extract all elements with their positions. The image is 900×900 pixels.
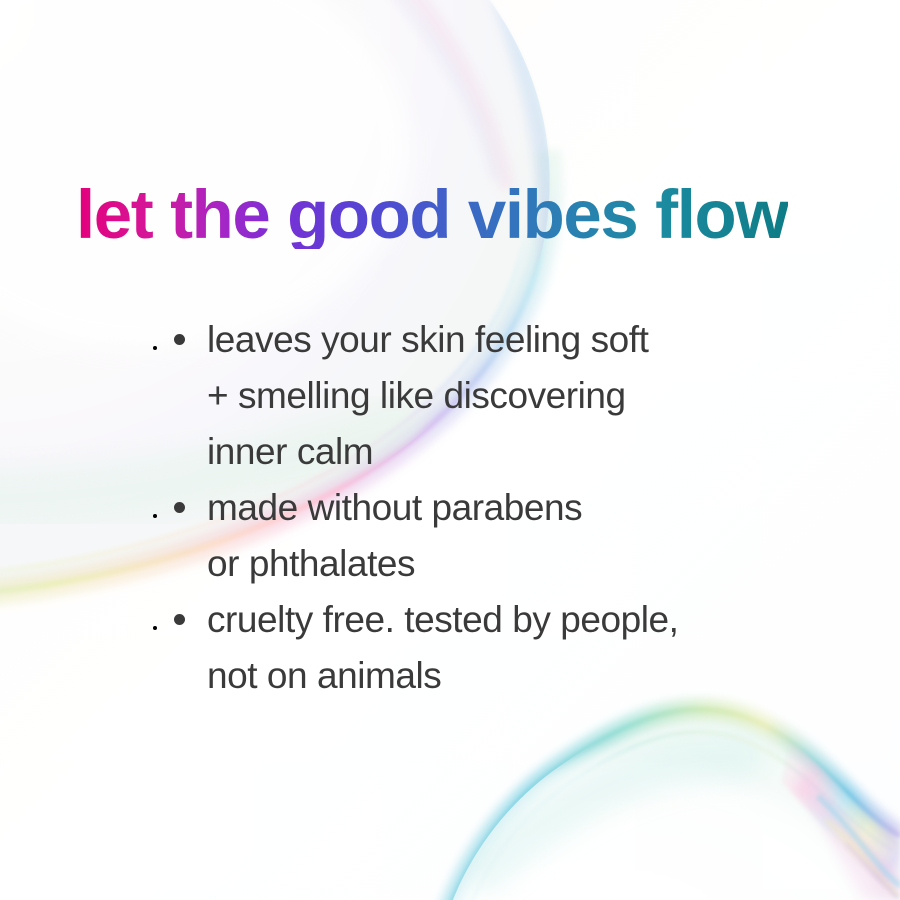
bullet-dot-icon bbox=[174, 502, 185, 513]
list-item-text: cruelty free. tested by people, not on a… bbox=[207, 592, 808, 704]
bullet-dot-icon bbox=[174, 334, 185, 345]
list-item-text: made without parabens or phthalates bbox=[207, 480, 808, 592]
list-item-line: inner calm bbox=[207, 424, 808, 480]
list-item-text: leaves your skin feeling soft + smelling… bbox=[207, 312, 808, 480]
list-item-line: + smelling like discovering bbox=[207, 368, 808, 424]
list-item-line: leaves your skin feeling soft bbox=[207, 312, 808, 368]
list-item-line: or phthalates bbox=[207, 536, 808, 592]
list-item: made without parabens or phthalates bbox=[168, 480, 808, 592]
list-item-line: made without parabens bbox=[207, 480, 808, 536]
list-item: leaves your skin feeling soft + smelling… bbox=[168, 312, 808, 480]
bullet-dot-icon bbox=[174, 614, 185, 625]
page-title: let the good vibes flow bbox=[76, 180, 788, 249]
benefits-list: leaves your skin feeling soft + smelling… bbox=[168, 312, 808, 704]
poster-canvas: let the good vibes flow leaves your skin… bbox=[0, 0, 900, 900]
bubble-bottom-right bbox=[320, 709, 900, 900]
list-item-line: cruelty free. tested by people, bbox=[207, 592, 808, 648]
list-item: cruelty free. tested by people, not on a… bbox=[168, 592, 808, 704]
list-item-line: not on animals bbox=[207, 648, 808, 704]
